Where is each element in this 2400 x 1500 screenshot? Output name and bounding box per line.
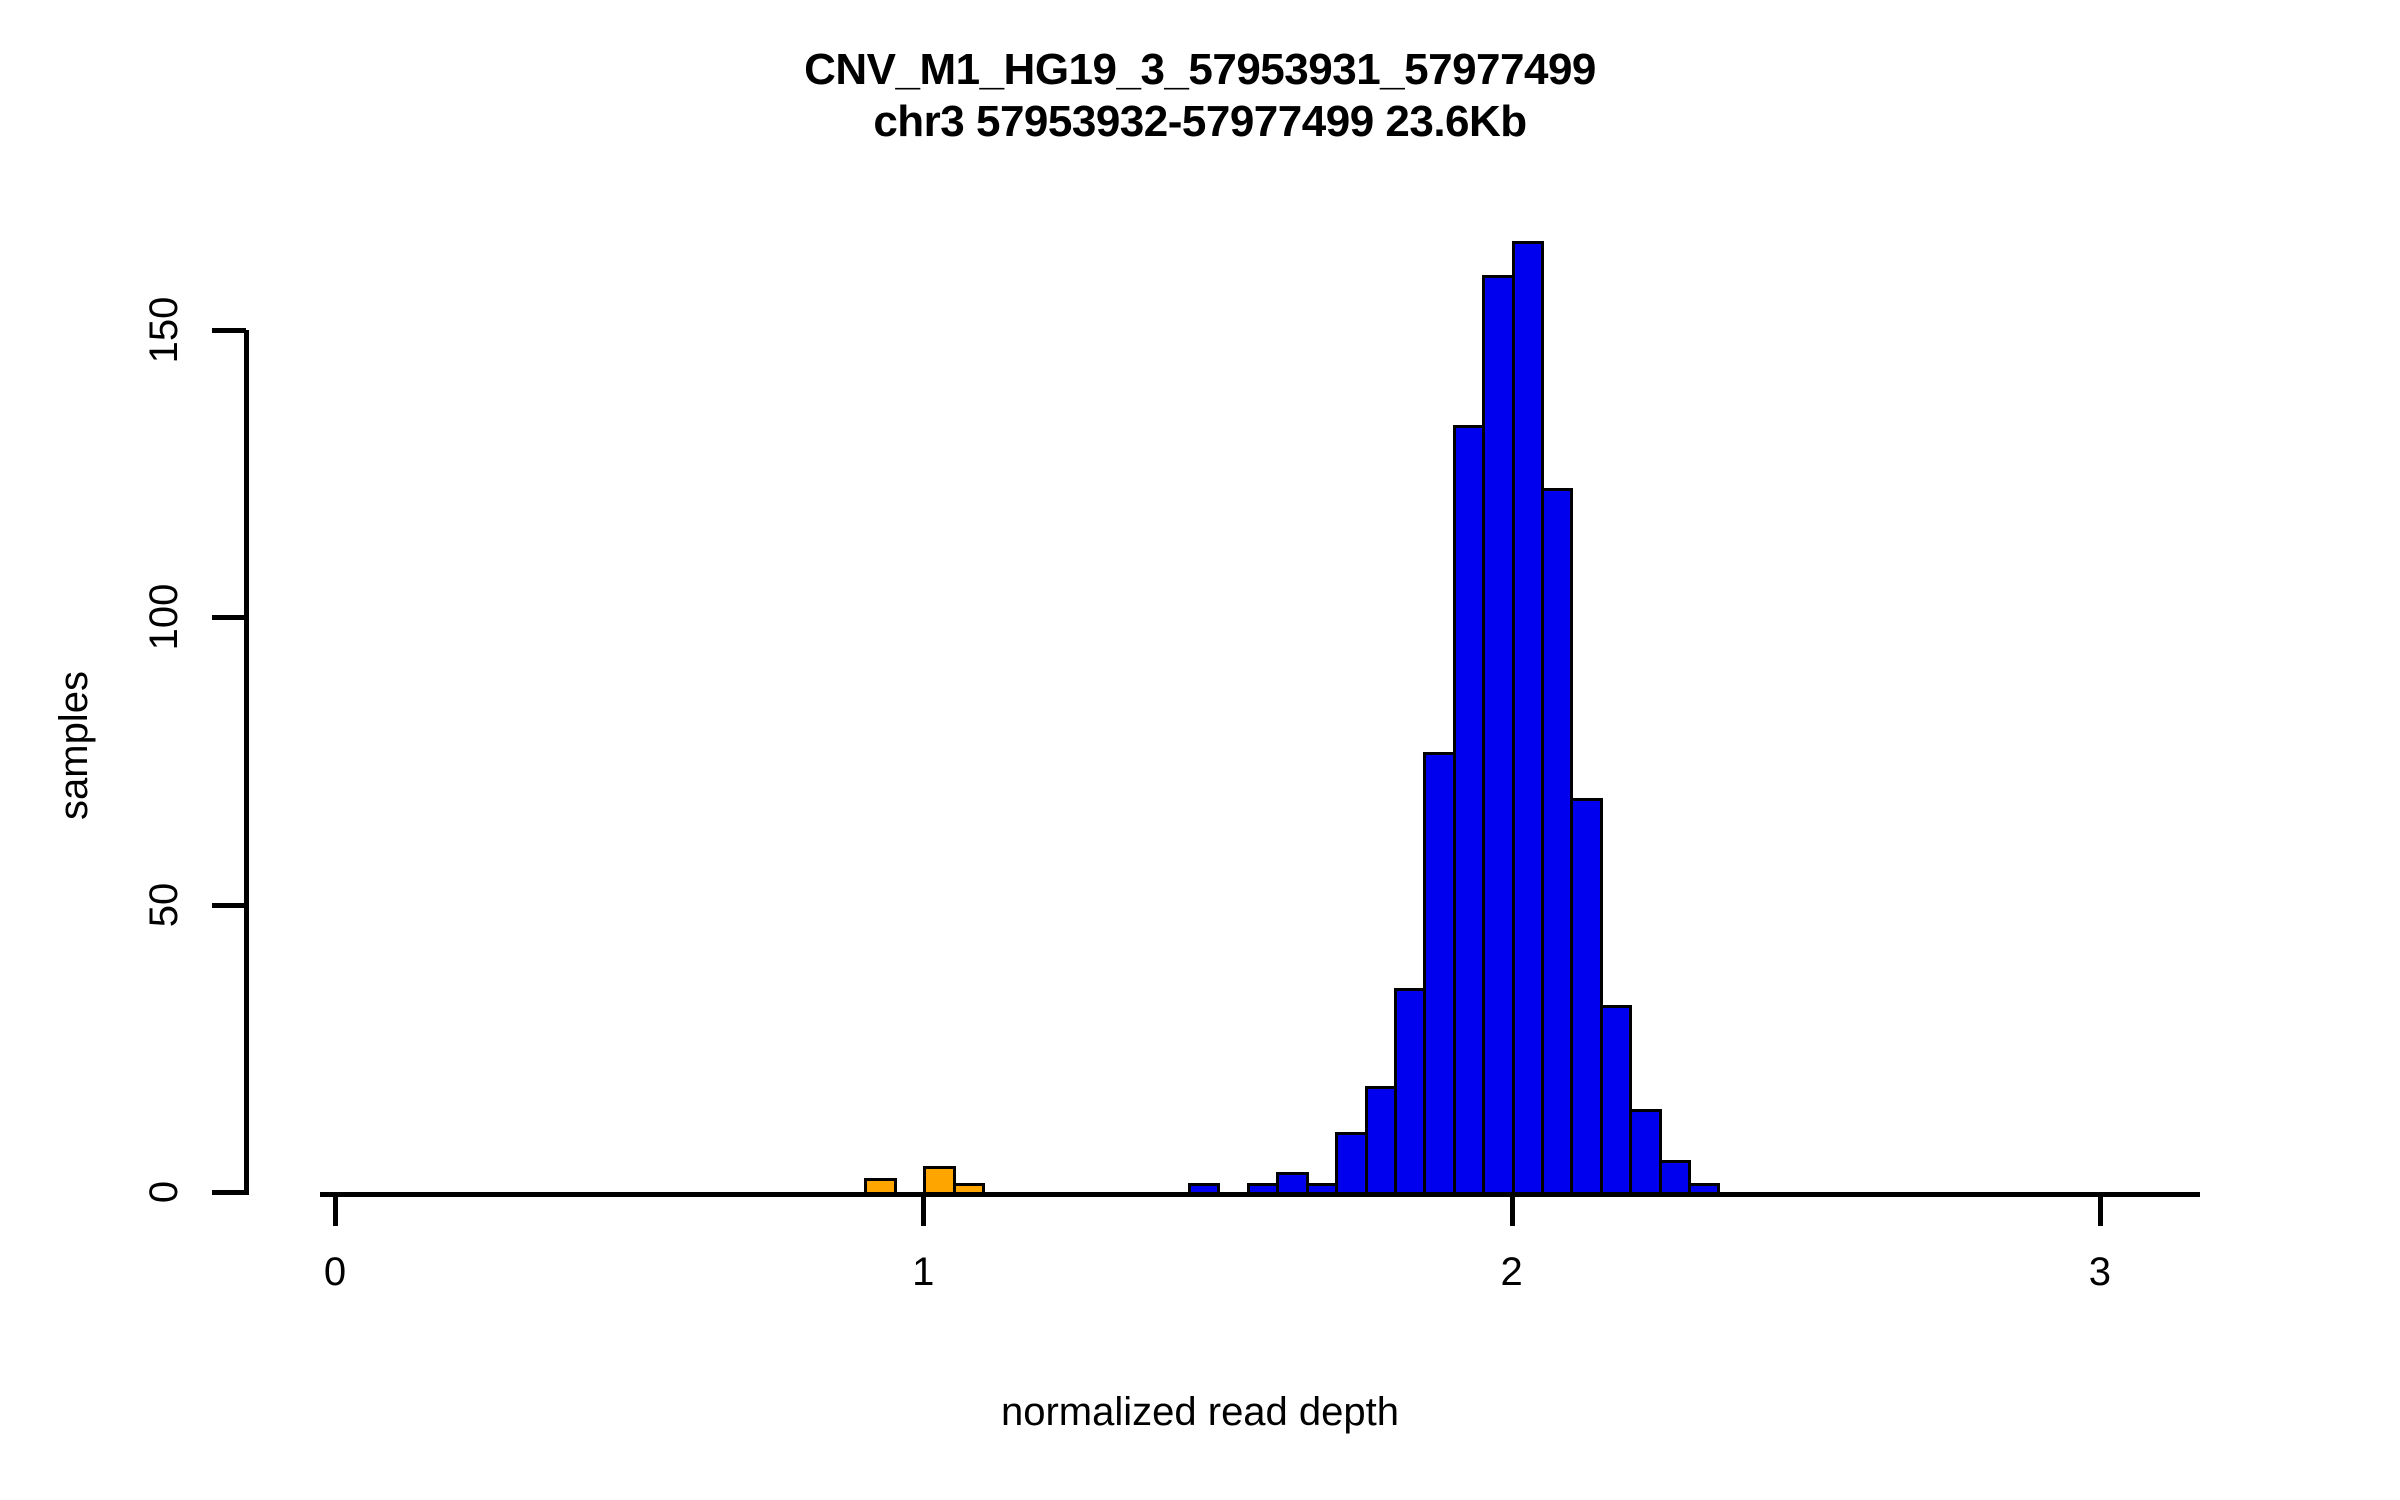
y-axis-tick-label: 150 bbox=[142, 270, 186, 390]
y-axis-line bbox=[244, 330, 249, 1195]
histogram-bar[interactable] bbox=[1394, 988, 1426, 1195]
x-axis-tick-label: 2 bbox=[1452, 1250, 1572, 1295]
x-axis-tick bbox=[333, 1192, 338, 1226]
histogram-bar[interactable] bbox=[1482, 275, 1514, 1195]
histogram-bar[interactable] bbox=[1570, 798, 1602, 1195]
x-axis-tick-label: 0 bbox=[275, 1250, 395, 1295]
histogram-bar[interactable] bbox=[1629, 1109, 1661, 1195]
y-axis-tick bbox=[212, 903, 246, 908]
histogram-bar[interactable] bbox=[1423, 752, 1455, 1195]
histogram-bar[interactable] bbox=[1659, 1160, 1691, 1195]
histogram-bar[interactable] bbox=[1541, 488, 1573, 1195]
y-axis-tick bbox=[212, 1190, 246, 1195]
chart-canvas: CNV_M1_HG19_3_57953931_57977499 chr3 579… bbox=[0, 0, 2400, 1500]
histogram-bar[interactable] bbox=[1512, 241, 1544, 1195]
x-axis-line bbox=[320, 1192, 2200, 1197]
x-axis-tick-label: 3 bbox=[2040, 1250, 2160, 1295]
histogram-bar[interactable] bbox=[1600, 1005, 1632, 1195]
histogram-bar[interactable] bbox=[923, 1166, 955, 1195]
y-axis-tick bbox=[212, 615, 246, 620]
plot-area: 0501001500123 bbox=[0, 0, 2400, 1500]
x-axis-tick bbox=[921, 1192, 926, 1226]
histogram-bar[interactable] bbox=[1453, 425, 1485, 1195]
x-axis-tick bbox=[1510, 1192, 1515, 1226]
y-axis-tick-label: 50 bbox=[142, 845, 186, 965]
histogram-bar[interactable] bbox=[1365, 1086, 1397, 1195]
x-axis-tick-label: 1 bbox=[863, 1250, 983, 1295]
y-axis-tick-label: 100 bbox=[142, 557, 186, 677]
y-axis-tick-label: 0 bbox=[142, 1132, 186, 1252]
histogram-bar[interactable] bbox=[1335, 1132, 1367, 1195]
y-axis-tick bbox=[212, 328, 246, 333]
x-axis-tick bbox=[2098, 1192, 2103, 1226]
